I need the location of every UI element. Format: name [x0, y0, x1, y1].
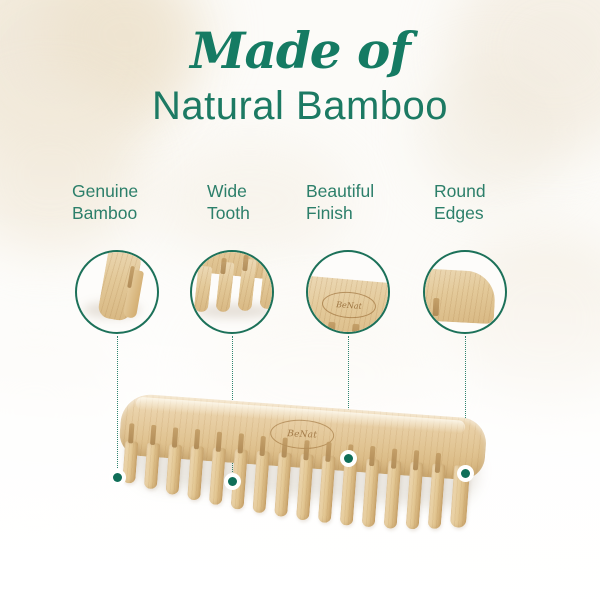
- callout-circle-beautiful-finish: BeNat: [306, 250, 390, 334]
- title-line-script: Made of: [0, 26, 600, 76]
- marker-dot-core: [461, 469, 470, 478]
- marker-dot-core: [228, 477, 237, 486]
- bamboo-comb-product: BeNat: [111, 385, 492, 577]
- rounded-corner-closeup-icon: [425, 252, 505, 332]
- feature-label-round-edges: Round Edges: [434, 180, 486, 225]
- callout-circle-round-edges: [423, 250, 507, 334]
- marker-dot-round-edges[interactable]: [457, 465, 474, 482]
- callout-circle-genuine-bamboo: [75, 250, 159, 334]
- title-line-subtitle: Natural Bamboo: [0, 85, 600, 128]
- callout-circle-wide-tooth: [190, 250, 274, 334]
- wide-teeth-closeup-icon: [192, 252, 272, 332]
- infographic-canvas: Made of Natural Bamboo Genuine Bamboo Wi…: [0, 0, 600, 600]
- feature-label-beautiful-finish: Beautiful Finish: [306, 180, 374, 225]
- marker-dot-beautiful-finish[interactable]: [340, 450, 357, 467]
- marker-dot-core: [113, 473, 122, 482]
- marker-dot-core: [344, 454, 353, 463]
- bamboo-tooth-closeup-icon: [77, 252, 157, 332]
- marker-dot-wide-tooth[interactable]: [224, 473, 241, 490]
- feature-label-genuine-bamboo: Genuine Bamboo: [72, 180, 138, 225]
- page-title: Made of Natural Bamboo: [0, 26, 600, 128]
- brand-stamp-text: BeNat: [336, 300, 362, 311]
- comb-brand-stamp-text: BeNat: [287, 429, 317, 440]
- brand-stamp-closeup-icon: BeNat: [308, 252, 388, 332]
- marker-dot-genuine-bamboo[interactable]: [109, 469, 126, 486]
- feature-label-wide-tooth: Wide Tooth: [207, 180, 250, 225]
